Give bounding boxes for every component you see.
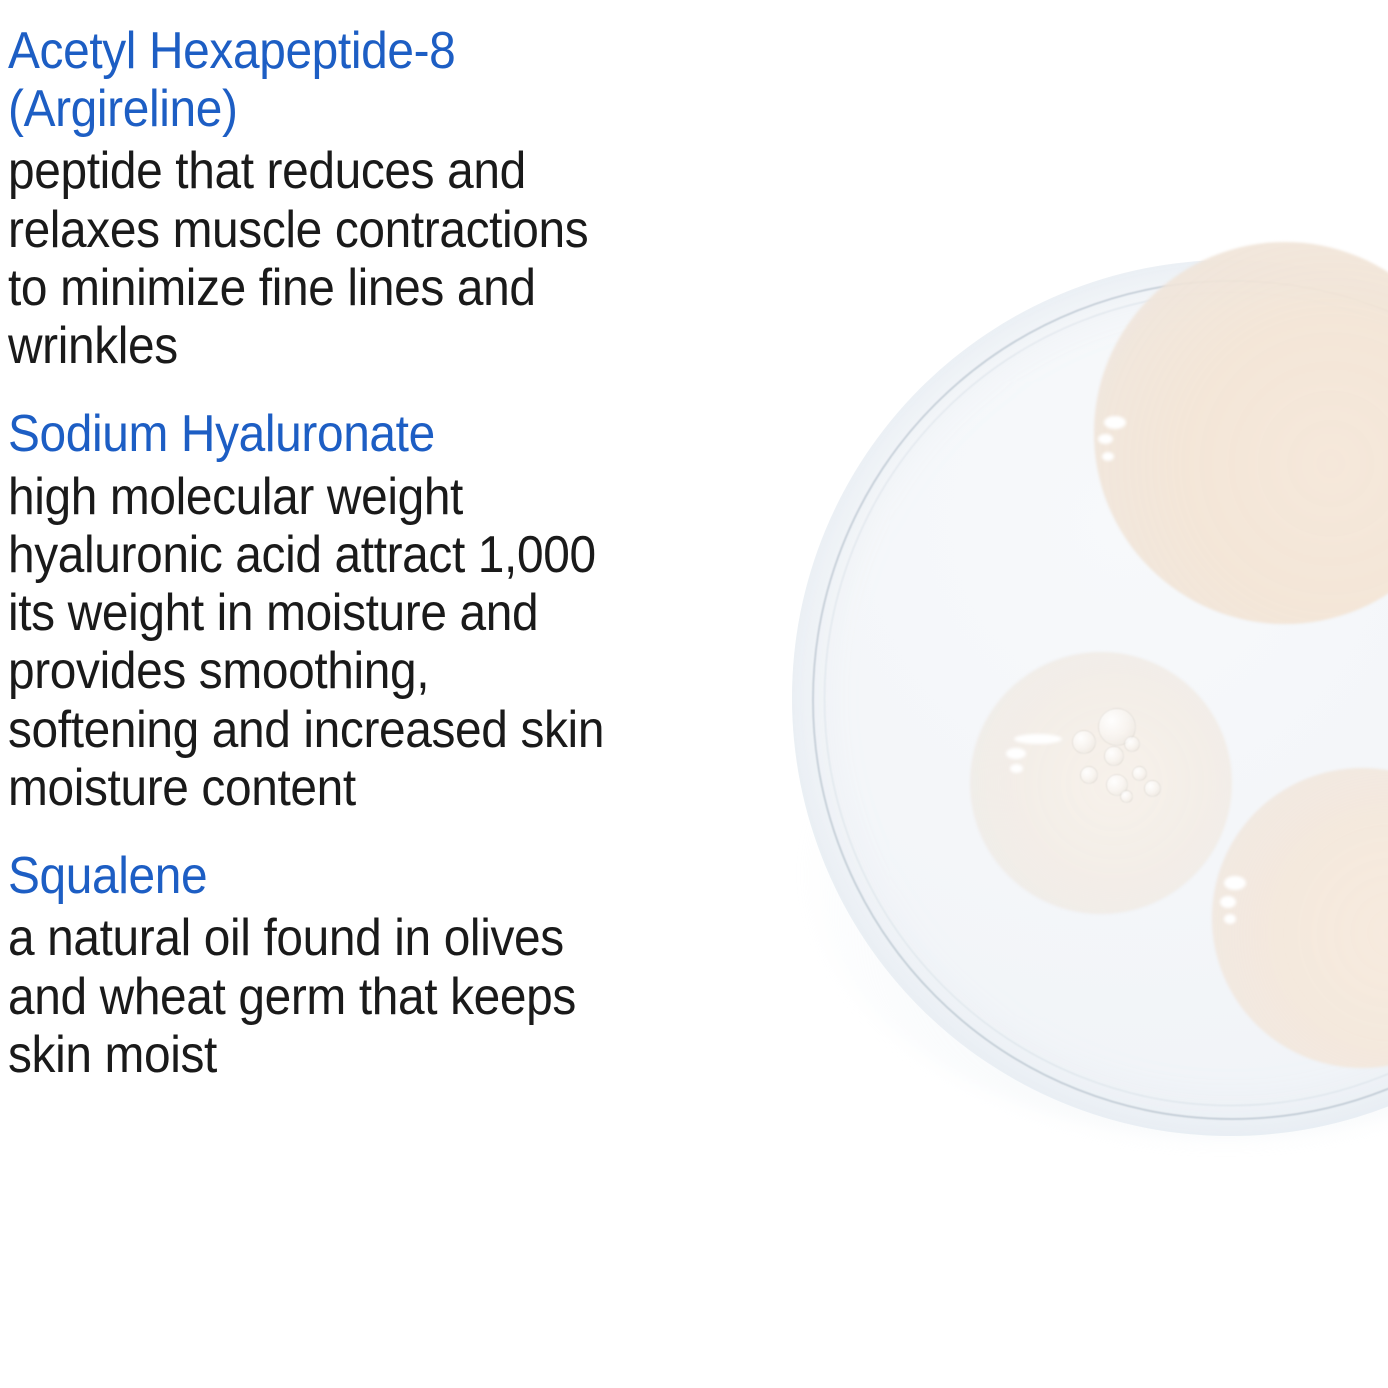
petri-dish-photo	[700, 0, 1388, 1388]
air-bubble	[1144, 780, 1161, 797]
serum-droplet-middle-left	[970, 652, 1232, 914]
air-bubble	[1132, 766, 1147, 781]
air-bubble	[1080, 766, 1098, 784]
droplet-glint	[1224, 876, 1246, 890]
ingredient-list: Acetyl Hexapeptide-8 (Argireline) peptid…	[8, 22, 798, 1084]
droplet-glint	[1006, 748, 1026, 759]
air-bubble	[1104, 746, 1124, 766]
droplet-glint	[1098, 434, 1113, 444]
ingredient-item-acetyl-hexapeptide-8: Acetyl Hexapeptide-8 (Argireline) peptid…	[8, 22, 798, 375]
droplet-glint	[1102, 452, 1114, 461]
ingredient-description: a natural oil found in olives and wheat …	[8, 909, 735, 1084]
ingredient-description: peptide that reduces and relaxes muscle …	[8, 142, 735, 375]
ingredient-name: Acetyl Hexapeptide-8 (Argireline)	[8, 22, 735, 138]
air-bubble	[1124, 736, 1140, 752]
droplet-glint	[1220, 896, 1236, 908]
droplet-glint	[1224, 914, 1236, 924]
droplet-glint	[1010, 764, 1023, 773]
ingredient-item-sodium-hyaluronate: Sodium Hyaluronate high molecular weight…	[8, 405, 798, 817]
ingredient-description: high molecular weight hyaluronic acid at…	[8, 468, 735, 817]
ingredient-name: Squalene	[8, 847, 735, 905]
ingredient-info-page: Acetyl Hexapeptide-8 (Argireline) peptid…	[0, 0, 1388, 1388]
ingredient-name: Sodium Hyaluronate	[8, 405, 735, 463]
air-bubble	[1072, 730, 1096, 754]
air-bubble	[1120, 790, 1133, 803]
ingredient-item-squalene: Squalene a natural oil found in olives a…	[8, 847, 798, 1084]
droplet-glint	[1104, 416, 1126, 429]
droplet-glint	[1014, 734, 1062, 744]
